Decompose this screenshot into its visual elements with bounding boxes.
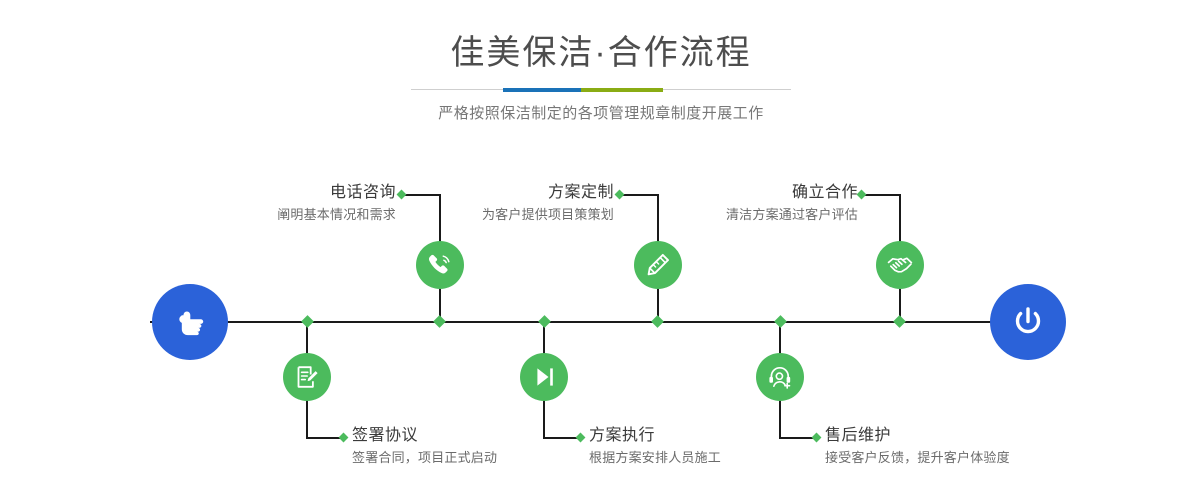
step-icon-circle-1 — [416, 241, 464, 289]
axis-diamond-step-6 — [774, 315, 787, 328]
step-title-1: 电话咨询 — [277, 183, 396, 203]
process-flow-diagram: 电话咨询 阐明基本情况和需求 签署协议 签署合同，项目正式启动 — [0, 0, 1202, 502]
step-label-3: 方案定制 为客户提供项目策策划 — [482, 183, 614, 225]
label-diamond-step-5 — [857, 190, 867, 200]
handshake-icon — [886, 251, 914, 279]
axis-diamond-step-3 — [651, 315, 664, 328]
step-title-5: 确立合作 — [726, 183, 858, 203]
step-icon-circle-3 — [634, 241, 682, 289]
timeline-axis — [150, 321, 1052, 323]
step-desc-6: 接受客户反馈，提升客户体验度 — [825, 448, 1010, 468]
step-title-2: 签署协议 — [352, 426, 497, 446]
connector-horizontal-step-2 — [306, 437, 342, 439]
connector-horizontal-step-5 — [862, 194, 901, 196]
step-desc-1: 阐明基本情况和需求 — [277, 205, 396, 225]
flow-end-node — [990, 284, 1066, 360]
label-diamond-step-6 — [812, 433, 822, 443]
flow-start-node — [152, 284, 228, 360]
step-icon-circle-4 — [520, 353, 568, 401]
connector-horizontal-step-6 — [779, 437, 815, 439]
step-icon-circle-6 — [756, 353, 804, 401]
axis-diamond-step-1 — [433, 315, 446, 328]
headset-support-icon — [766, 363, 794, 391]
step-icon-circle-2 — [283, 353, 331, 401]
play-skip-icon — [530, 363, 558, 391]
step-label-2: 签署协议 签署合同，项目正式启动 — [352, 426, 497, 468]
step-desc-2: 签署合同，项目正式启动 — [352, 448, 497, 468]
document-edit-icon — [293, 363, 321, 391]
power-icon — [1007, 301, 1049, 343]
phone-ring-icon — [426, 251, 454, 279]
label-diamond-step-2 — [339, 433, 349, 443]
label-diamond-step-4 — [576, 433, 586, 443]
connector-horizontal-step-1 — [402, 194, 441, 196]
step-desc-4: 根据方案安排人员施工 — [589, 448, 721, 468]
axis-diamond-step-2 — [301, 315, 314, 328]
step-icon-circle-5 — [876, 241, 924, 289]
connector-horizontal-step-4 — [543, 437, 579, 439]
label-diamond-step-1 — [397, 190, 407, 200]
step-title-6: 售后维护 — [825, 426, 1010, 446]
pencil-ruler-icon — [644, 251, 672, 279]
step-label-4: 方案执行 根据方案安排人员施工 — [589, 426, 721, 468]
hand-point-right-icon — [170, 302, 210, 342]
step-title-4: 方案执行 — [589, 426, 721, 446]
axis-diamond-step-4 — [538, 315, 551, 328]
cooperation-process-infographic: 佳美保洁·合作流程 严格按照保洁制定的各项管理规章制度开展工作 — [0, 0, 1202, 502]
step-desc-5: 清洁方案通过客户评估 — [726, 205, 858, 225]
step-label-5: 确立合作 清洁方案通过客户评估 — [726, 183, 858, 225]
axis-diamond-step-5 — [893, 315, 906, 328]
connector-horizontal-step-3 — [620, 194, 659, 196]
label-diamond-step-3 — [615, 190, 625, 200]
step-label-6: 售后维护 接受客户反馈，提升客户体验度 — [825, 426, 1010, 468]
step-label-1: 电话咨询 阐明基本情况和需求 — [277, 183, 396, 225]
step-desc-3: 为客户提供项目策策划 — [482, 205, 614, 225]
step-title-3: 方案定制 — [482, 183, 614, 203]
